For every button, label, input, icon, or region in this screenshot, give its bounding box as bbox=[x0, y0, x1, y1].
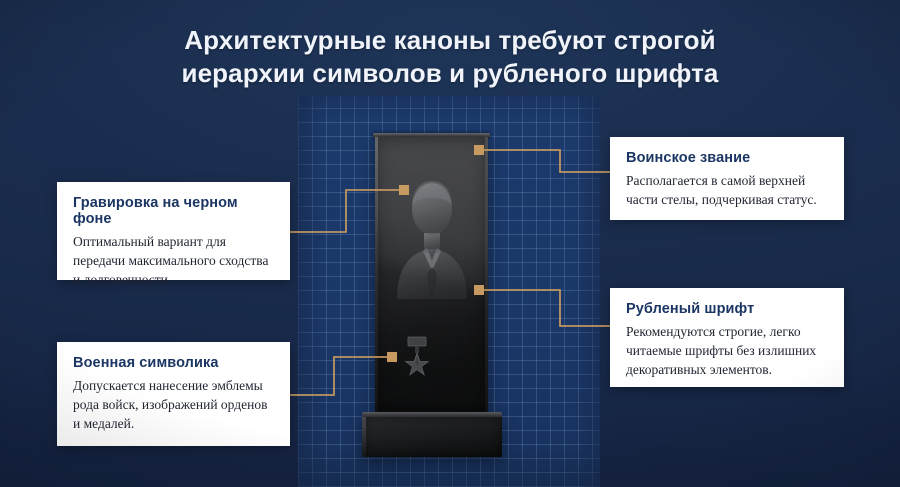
callout-title: Рубленый шрифт bbox=[626, 301, 828, 317]
callout-card-symbols[interactable]: Военная символика Допускается нанесение … bbox=[57, 342, 290, 446]
slide-canvas: Архитектурные каноны требуют строгой иер… bbox=[0, 0, 900, 487]
callout-title: Гравировка на черном фоне bbox=[73, 195, 274, 227]
callout-body: Рекомендуются строгие, легко читаемые шр… bbox=[626, 322, 828, 379]
marker-engraving bbox=[399, 185, 409, 195]
callout-card-engraving[interactable]: Гравировка на черном фоне Оптимальный ва… bbox=[57, 182, 290, 280]
connector-symbols bbox=[290, 357, 392, 395]
callout-body: Располагается в самой верхней части стел… bbox=[626, 171, 828, 209]
callout-title: Воинское звание bbox=[626, 150, 828, 166]
connector-engraving bbox=[290, 190, 404, 232]
connector-rank bbox=[482, 150, 610, 172]
marker-font bbox=[474, 285, 484, 295]
callout-card-font[interactable]: Рубленый шрифт Рекомендуются строгие, ле… bbox=[610, 288, 844, 387]
callout-body: Допускается нанесение эмблемы рода войск… bbox=[73, 376, 274, 433]
callout-body: Оптимальный вариант для передачи максима… bbox=[73, 232, 274, 289]
callout-card-rank[interactable]: Воинское звание Располагается в самой ве… bbox=[610, 137, 844, 220]
callout-title: Военная символика bbox=[73, 355, 274, 371]
connector-font bbox=[482, 290, 610, 326]
marker-rank bbox=[474, 145, 484, 155]
marker-symbols bbox=[387, 352, 397, 362]
